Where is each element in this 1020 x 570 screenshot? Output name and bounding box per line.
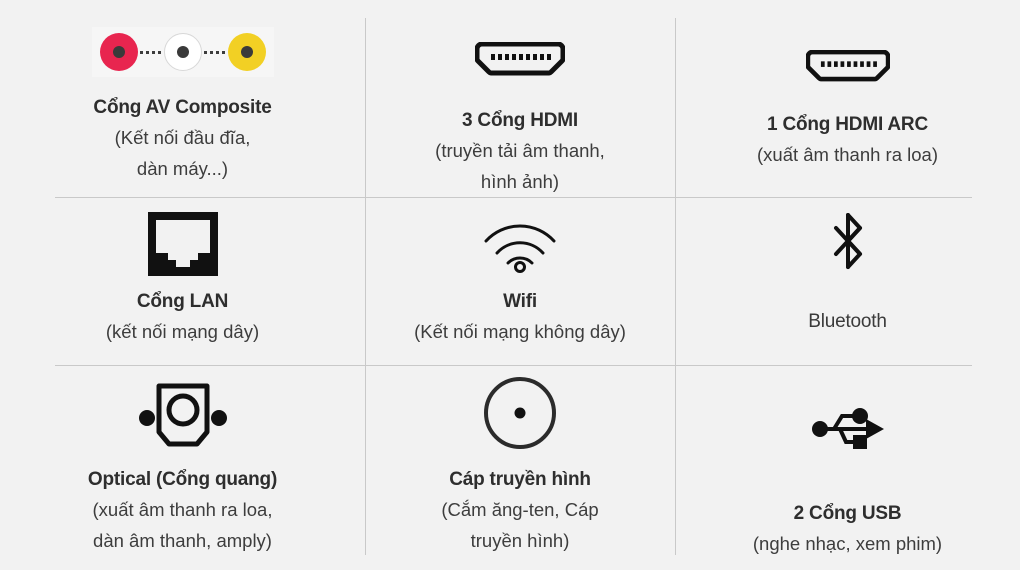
cell-title: 3 Cổng HDMI [462, 108, 578, 133]
cell-title: 1 Cổng HDMI ARC [767, 112, 928, 137]
av-plug-white-pin [177, 46, 189, 58]
coaxial-icon-wrap [482, 377, 558, 449]
cell-subtitle-line: dàn âm thanh, amply) [93, 527, 272, 554]
hdmi-icon-wrap [475, 28, 565, 90]
hdmi-port-icon [475, 42, 565, 76]
av-plug-yellow [228, 33, 266, 71]
cell-subtitle-line: dàn máy...) [137, 155, 228, 182]
av-composite-icon-wrap [92, 21, 274, 83]
av-plug-red-pin [113, 46, 125, 58]
bluetooth-icon-wrap [828, 211, 868, 273]
wifi-icon-wrap [480, 213, 560, 275]
cell-subtitle-line: (nghe nhạc, xem phim) [753, 530, 942, 557]
cell-title: Optical (Cổng quang) [88, 467, 277, 492]
cell-hdmi-arc: 1 Cổng HDMI ARC (xuất âm thanh ra loa) [675, 0, 1020, 197]
cell-subtitle-line: (kết nối mạng dây) [106, 318, 259, 345]
optical-icon-wrap [137, 382, 229, 454]
wifi-icon [480, 215, 560, 273]
optical-port-icon [137, 382, 229, 454]
usb-icon-wrap [810, 393, 886, 465]
lan-icon-wrap [148, 213, 218, 275]
cell-subtitle-line: (truyền tải âm thanh, [435, 137, 605, 164]
av-dashes-right [202, 51, 228, 54]
coaxial-cable-icon [482, 375, 558, 451]
hdmi-arc-port-icon [806, 50, 890, 82]
cell-av-composite: Cổng AV Composite (Kết nối đầu đĩa, dàn … [0, 0, 365, 197]
cell-subtitle-line: truyền hình) [471, 527, 570, 554]
av-plug-white [164, 33, 202, 71]
cell-title: Cáp truyền hình [449, 467, 591, 492]
cell-title: Cổng LAN [137, 289, 228, 314]
cell-subtitle-line: (Kết nối đầu đĩa, [115, 124, 251, 151]
hdmi-arc-icon-wrap [806, 35, 890, 97]
cell-title: 2 Cổng USB [794, 501, 902, 526]
cell-subtitle-line: (xuất âm thanh ra loa, [93, 496, 273, 523]
cell-lan: Cổng LAN (kết nối mạng dây) [0, 197, 365, 365]
cell-subtitle-line: hình ảnh) [481, 168, 559, 195]
connectivity-ports-grid: Cổng AV Composite (Kết nối đầu đĩa, dàn … [0, 0, 1020, 570]
cell-subtitle-line: (Kết nối mạng không dây) [414, 318, 626, 345]
bluetooth-icon [828, 212, 868, 272]
usb-port-icon [810, 406, 886, 452]
cell-title: Cổng AV Composite [93, 95, 271, 120]
cell-usb: 2 Cổng USB (nghe nhạc, xem phim) [675, 365, 1020, 570]
av-plug-red [100, 33, 138, 71]
cell-bluetooth: Bluetooth [675, 197, 1020, 365]
cell-title: Wifi [503, 289, 537, 314]
lan-port-icon [148, 212, 218, 276]
av-plug-yellow-pin [241, 46, 253, 58]
cell-hdmi: 3 Cổng HDMI (truyền tải âm thanh, hình ả… [365, 0, 675, 197]
cell-wifi: Wifi (Kết nối mạng không dây) [365, 197, 675, 365]
cell-optical: Optical (Cổng quang) (xuất âm thanh ra l… [0, 365, 365, 570]
av-composite-icon [92, 27, 274, 77]
cell-title: Bluetooth [808, 309, 887, 334]
cell-subtitle-line: (Cắm ăng-ten, Cáp [441, 496, 598, 523]
av-dashes-left [138, 51, 164, 54]
cell-subtitle-line: (xuất âm thanh ra loa) [757, 141, 938, 168]
cell-coaxial-cable: Cáp truyền hình (Cắm ăng-ten, Cáp truyền… [365, 365, 675, 570]
